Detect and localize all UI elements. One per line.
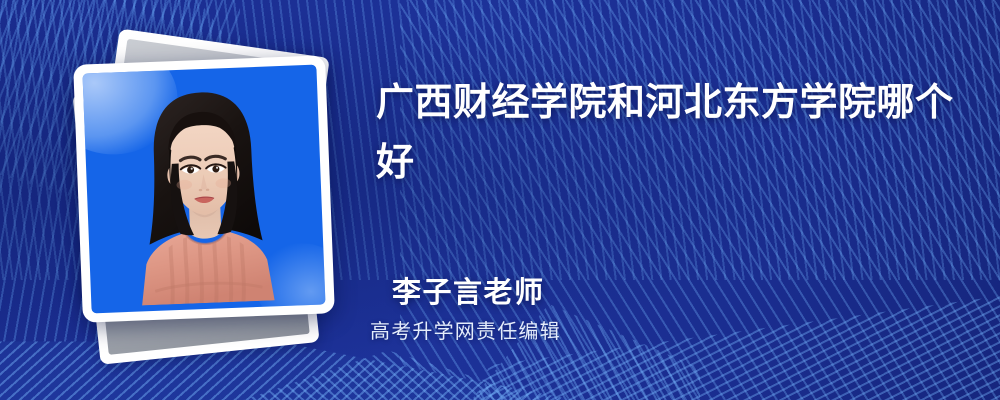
author-photo-frame [82,65,325,314]
article-cover-banner: 广西财经学院和河北东方学院哪个 好 李子言老师 高考升学网责任编辑 [0,0,1000,400]
headline-line-2: 好 [376,132,966,192]
author-photo-card [73,55,335,322]
author-photo-stack [52,34,352,354]
author-byline: 李子言老师 高考升学网责任编辑 [392,274,912,346]
headline-block: 广西财经学院和河北东方学院哪个 好 [376,72,966,192]
author-portrait-image [82,65,325,308]
author-role: 高考升学网责任编辑 [370,316,912,346]
headline-line-1: 广西财经学院和河北东方学院哪个 [376,72,966,132]
author-name: 李子言老师 [392,274,912,310]
